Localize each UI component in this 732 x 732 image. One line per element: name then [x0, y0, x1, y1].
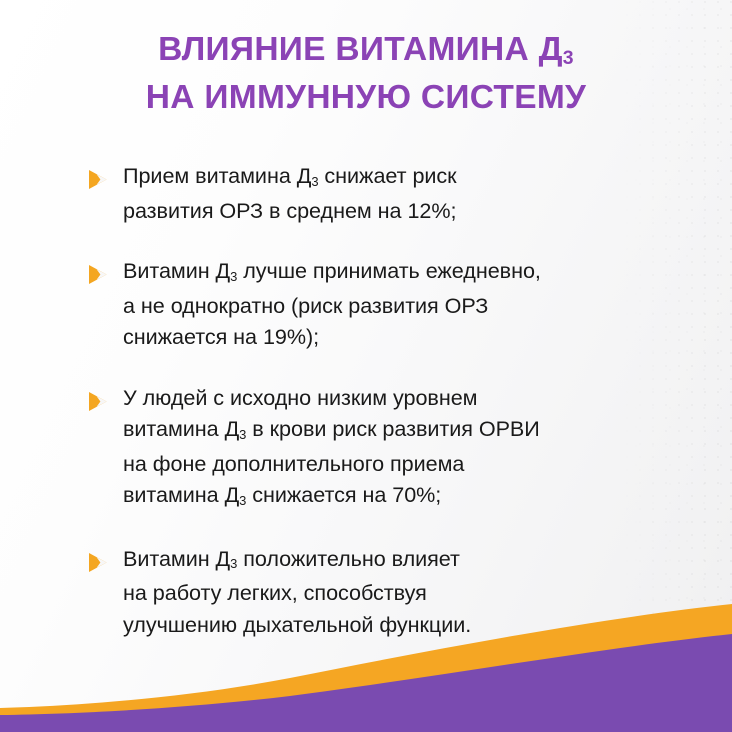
list-item-text-pre: Витамин Д [123, 546, 230, 571]
list-item-text: Витамин Д3 лучше принимать ежедневно, а … [123, 255, 541, 353]
title-line-1-text: ВЛИЯНИЕ ВИТАМИНА Д [158, 31, 563, 68]
list-item-text-pre: Витамин Д [123, 258, 230, 283]
decorative-wave-footer [0, 592, 732, 732]
list-item: Витамин Д3 лучше принимать ежедневно, а … [88, 255, 688, 353]
list-item-subscript: 3 [239, 427, 246, 442]
list-item-subscript: 3 [230, 556, 237, 571]
list-item-text-pre: Прием витамина Д [123, 163, 311, 188]
list-item-subscript: 3 [311, 174, 318, 189]
title-line-1: ВЛИЯНИЕ ВИТАМИНА Д3 [0, 28, 732, 76]
triangle-arrow-marker-icon [88, 264, 110, 285]
page-title: ВЛИЯНИЕ ВИТАМИНА Д3 НА ИММУННУЮ СИСТЕМУ [0, 28, 732, 120]
title-line-2: НА ИММУННУЮ СИСТЕМУ [0, 76, 732, 120]
list-item-subscript-tail: 3 [239, 493, 246, 508]
triangle-arrow-marker-icon [88, 169, 110, 190]
list-item-subscript: 3 [230, 269, 237, 284]
list-item-text: У людей с исходно низким уровнем витамин… [123, 382, 540, 514]
poster-canvas: ВЛИЯНИЕ ВИТАМИНА Д3 НА ИММУННУЮ СИСТЕМУ … [0, 0, 732, 732]
bullet-list: Прием витамина Д3 снижает риск развития … [88, 160, 688, 640]
triangle-arrow-marker-icon [88, 552, 110, 573]
list-item: Прием витамина Д3 снижает риск развития … [88, 160, 688, 226]
list-item: У людей с исходно низким уровнем витамин… [88, 382, 688, 514]
list-item-text-tail: снижается на 70%; [246, 482, 441, 507]
list-item-text: Прием витамина Д3 снижает риск развития … [123, 160, 457, 226]
triangle-arrow-marker-icon [88, 391, 110, 412]
title-line-1-subscript: 3 [563, 47, 574, 69]
